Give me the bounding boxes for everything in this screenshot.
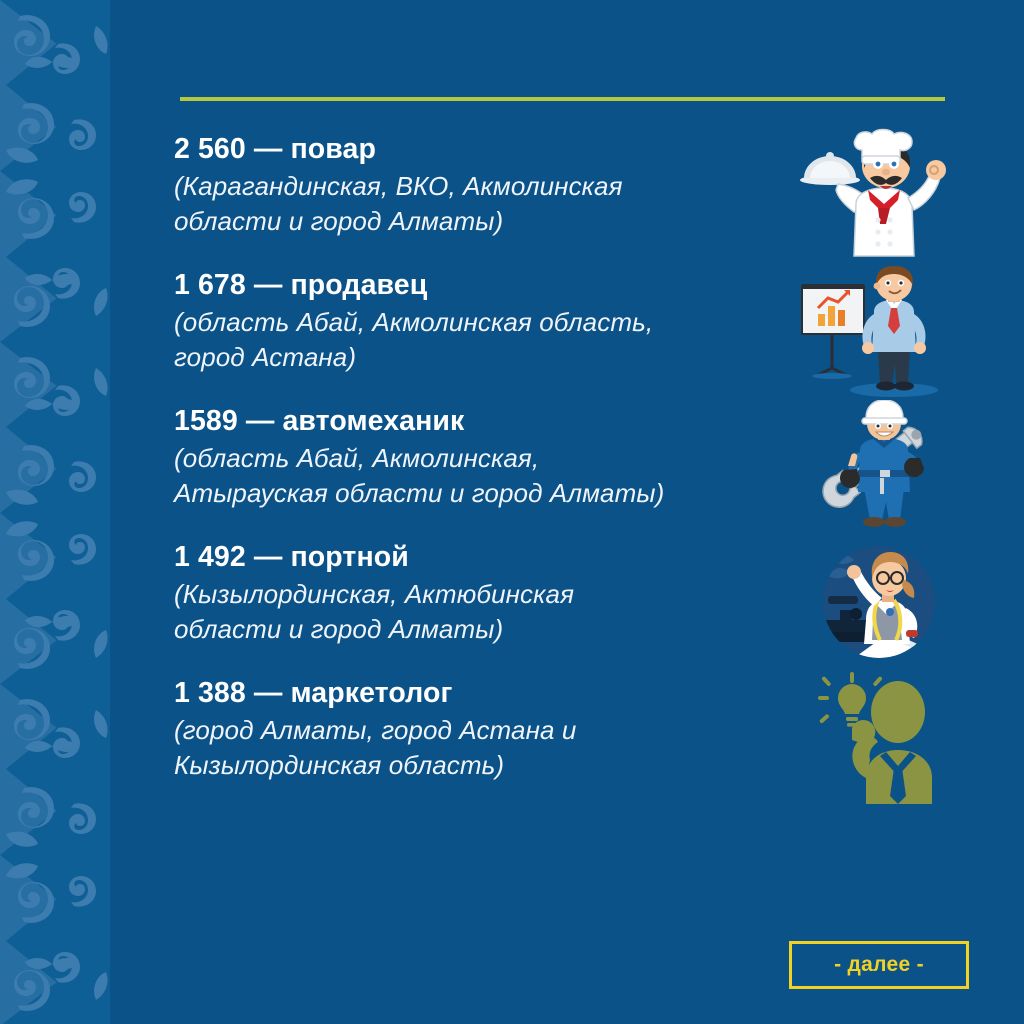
next-button-label: - далее -	[834, 953, 924, 977]
next-button[interactable]: - далее -	[789, 941, 969, 989]
vacancy-regions-line: Кызылординская область)	[174, 748, 786, 783]
vacancy-text: 1 492 — портной (Кызылординская, Актюбин…	[174, 536, 786, 647]
vacancy-regions-line: (Кызылординская, Актюбинская	[174, 577, 786, 612]
vacancy-regions: (Кызылординская, Актюбинская области и г…	[174, 577, 786, 647]
vacancy-regions-line: Атырауская области и город Алматы)	[174, 476, 786, 511]
ornament-tile	[0, 855, 118, 1024]
ornament-tile	[0, 684, 118, 855]
vacancy-regions-line: области и город Алматы)	[174, 204, 786, 239]
vacancy-regions-line: (область Абай, Акмолинская,	[174, 441, 786, 476]
chef-illustration	[794, 128, 964, 264]
vacancy-text: 1589 — автомеханик (область Абай, Акмоли…	[174, 400, 786, 511]
vacancy-text: 1 388 — маркетолог (город Алматы, город …	[174, 672, 786, 783]
vacancy-headline: 1 678 — продавец	[174, 266, 786, 305]
vacancy-regions: (область Абай, Акмолинская область, горо…	[174, 305, 786, 375]
vacancy-headline: 2 560 — повар	[174, 130, 786, 169]
salesman-illustration	[794, 264, 964, 400]
vacancy-regions: (город Алматы, город Астана и Кызылордин…	[174, 713, 786, 783]
ornament-tile	[0, 171, 118, 342]
vacancy-regions: (Карагандинская, ВКО, Акмолинская област…	[174, 169, 786, 239]
marketer-icon	[794, 672, 964, 808]
vacancy-text: 1 678 — продавец (область Абай, Акмолинс…	[174, 264, 786, 375]
vacancy-regions-line: (город Алматы, город Астана и	[174, 713, 786, 748]
tailor-illustration	[794, 536, 964, 672]
top-divider-rule	[180, 97, 945, 101]
vacancy-row: 1 492 — портной (Кызылординская, Актюбин…	[174, 536, 964, 672]
vacancy-row: 1 388 — маркетолог (город Алматы, город …	[174, 672, 964, 808]
vacancy-regions: (область Абай, Акмолинская, Атырауская о…	[174, 441, 786, 511]
vacancy-headline: 1 388 — маркетолог	[174, 674, 786, 713]
ornament-band	[0, 0, 118, 1024]
vacancy-row: 1 678 — продавец (область Абай, Акмолинс…	[174, 264, 964, 400]
ornament-band-edge	[110, 0, 118, 1024]
vacancy-regions-line: области и город Алматы)	[174, 612, 786, 647]
vacancy-row: 1589 — автомеханик (область Абай, Акмоли…	[174, 400, 964, 536]
vacancy-regions-line: (Карагандинская, ВКО, Акмолинская	[174, 169, 786, 204]
vacancy-headline: 1 492 — портной	[174, 538, 786, 577]
vacancy-headline: 1589 — автомеханик	[174, 402, 786, 441]
mechanic-illustration	[794, 400, 964, 536]
vacancy-list: 2 560 — повар (Карагандинская, ВКО, Акмо…	[174, 128, 964, 808]
vacancy-regions-line: город Астана)	[174, 340, 786, 375]
ornament-tile	[0, 513, 118, 684]
ornament-tile	[0, 0, 118, 171]
vacancy-text: 2 560 — повар (Карагандинская, ВКО, Акмо…	[174, 128, 786, 239]
ornament-tile	[0, 342, 118, 513]
vacancy-row: 2 560 — повар (Карагандинская, ВКО, Акмо…	[174, 128, 964, 264]
vacancy-regions-line: (область Абай, Акмолинская область,	[174, 305, 786, 340]
